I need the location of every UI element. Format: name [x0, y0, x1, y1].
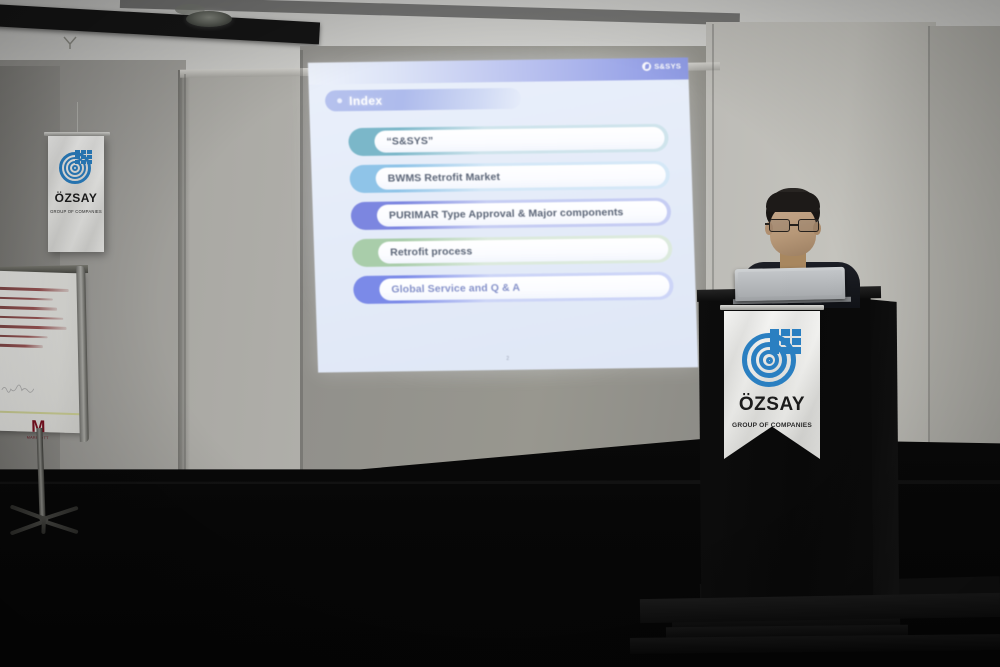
- wall-seam-3: [184, 74, 186, 494]
- swirl-icon: [642, 62, 651, 71]
- slide-index-item-body: Global Service and Q & A: [379, 275, 670, 301]
- slide-index-item: Global Service and Q & A: [353, 272, 674, 304]
- slide-header-bar: S&SYS: [308, 57, 689, 84]
- slide-brand-name: S&SYS: [654, 62, 681, 71]
- laptop-lid-surface: [738, 270, 843, 297]
- slide-index-item-label: Global Service and Q & A: [391, 282, 520, 296]
- slide-index-item-body: Retrofit process: [378, 238, 669, 264]
- ceiling-hook-icon: [62, 36, 78, 50]
- bullet-dot-icon: [337, 98, 342, 103]
- slide-index-item-label: “S&SYS”: [386, 135, 433, 148]
- easel-signature: [1, 383, 37, 394]
- ozsay-logo-icon-podium: [741, 327, 803, 389]
- easel-text-line: [0, 296, 53, 300]
- slide-title-bar: Index: [325, 88, 522, 112]
- slide-index-item-label: PURIMAR Type Approval & Major components: [389, 206, 624, 221]
- easel-text-line: [0, 325, 67, 330]
- laptop[interactable]: [735, 267, 846, 301]
- wall-banner-name: ÖZSAY: [55, 191, 98, 205]
- projection-screen: S&SYS Index “S&SYS”BWMS Retrofit MarketP…: [308, 57, 698, 372]
- easel-text-line: [0, 334, 48, 338]
- conference-room-photo: S&SYS Index “S&SYS”BWMS Retrofit MarketP…: [0, 0, 1000, 667]
- slide-index-item-label: BWMS Retrofit Market: [388, 171, 501, 185]
- wall-banner-tagline: GROUP OF COMPANIES: [50, 209, 102, 214]
- easel-text-line: [0, 306, 58, 310]
- easel-base: [6, 512, 82, 534]
- easel-text-line: [0, 315, 64, 320]
- wall-banner-string: [77, 102, 78, 132]
- speaker-hair-front: [766, 192, 820, 212]
- easel-text-lines: [0, 287, 70, 356]
- podium-banner-rod: [720, 305, 824, 310]
- slide-index-item-body: PURIMAR Type Approval & Major components: [377, 201, 668, 227]
- ceiling-downlight-icon: [186, 11, 232, 27]
- easel-divider: [0, 411, 81, 416]
- presentation-slide: S&SYS Index “S&SYS”BWMS Retrofit MarketP…: [308, 57, 698, 372]
- slide-index-item: “S&SYS”: [348, 124, 669, 156]
- ozsay-logo-icon: [58, 149, 94, 187]
- slide-page-number: 2: [506, 356, 509, 362]
- podium-banner-name: ÖZSAY: [739, 394, 805, 416]
- speaker-glasses-icon: [767, 219, 821, 232]
- slide-index-list: “S&SYS”BWMS Retrofit MarketPURIMAR Type …: [348, 124, 674, 313]
- wall-banner-ozsay: ÖZSAY GROUP OF COMPANIES: [48, 136, 104, 252]
- slide-index-item: Retrofit process: [352, 235, 673, 267]
- easel-text-line: [0, 287, 69, 292]
- slide-title: Index: [349, 93, 383, 107]
- slide-index-item-body: BWMS Retrofit Market: [375, 164, 666, 190]
- slide-brand-logo: S&SYS: [642, 62, 681, 72]
- slide-index-item-label: Retrofit process: [390, 245, 473, 258]
- slide-index-item-body: “S&SYS”: [374, 127, 665, 153]
- slide-index-item: BWMS Retrofit Market: [349, 161, 670, 193]
- easel-welcome-board: M MARRIOTT: [0, 271, 86, 434]
- slide-index-item: PURIMAR Type Approval & Major components: [350, 198, 671, 230]
- easel-text-line: [0, 344, 43, 348]
